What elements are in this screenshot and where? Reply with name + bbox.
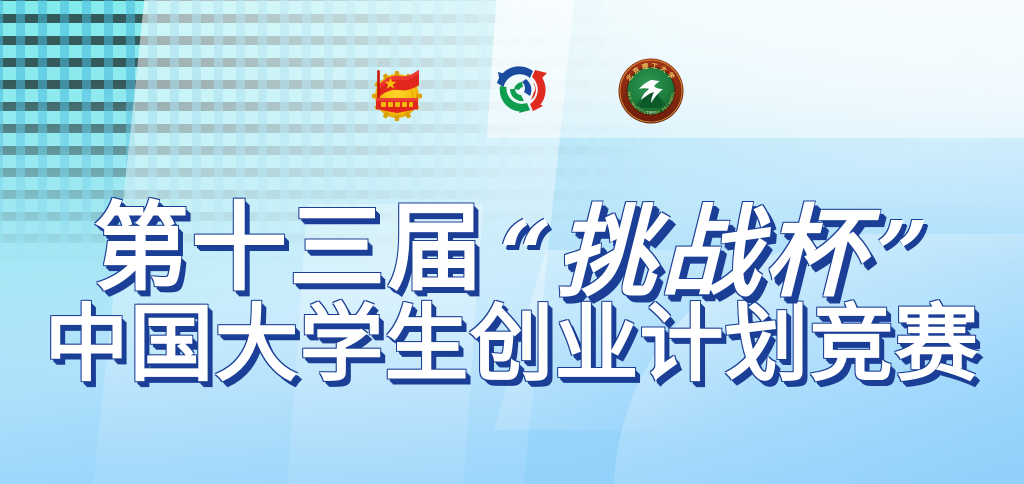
challenge-cup-text: 挑战杯 bbox=[556, 202, 868, 302]
title-prefix-text: 第十三届 bbox=[93, 200, 485, 296]
beijing-institute-of-technology-emblem-icon: 北京理工大学 BEIJING INSTITUTE OF TECHNOLOGY bbox=[618, 58, 684, 129]
title-line-2: 中国大学生创业计划竞赛 bbox=[44, 302, 979, 386]
quote-open-mark: “ bbox=[499, 209, 554, 301]
challenge-cup-emblem-icon bbox=[486, 58, 560, 129]
title-line-1: 第十三届 “ 挑战杯 ” bbox=[93, 196, 931, 296]
communist-youth-league-emblem-icon bbox=[366, 58, 428, 129]
organizer-logo-row: 北京理工大学 BEIJING INSTITUTE OF TECHNOLOGY bbox=[366, 58, 684, 129]
banner-title-block: 第十三届 “ 挑战杯 ” 中国大学生创业计划竞赛 bbox=[0, 196, 1024, 386]
svg-text:1940: 1940 bbox=[646, 111, 656, 115]
event-banner: 北京理工大学 BEIJING INSTITUTE OF TECHNOLOGY bbox=[0, 0, 1024, 484]
quote-close-mark: ” bbox=[876, 209, 931, 301]
title-subtitle-text: 中国大学生创业计划竞赛 bbox=[44, 302, 979, 386]
